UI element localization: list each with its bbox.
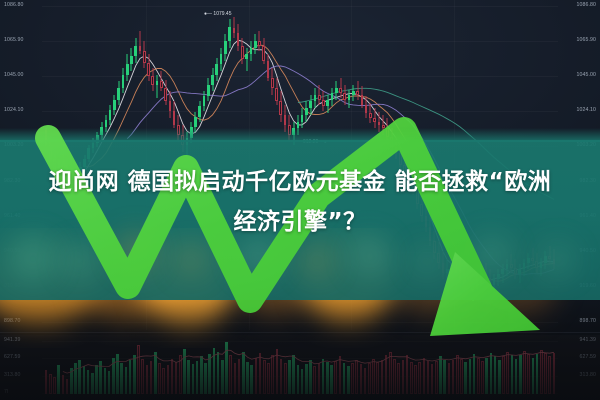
headline-line-1: 迎尚网 德国拟启动千亿欧元基金 能否拯救“欧洲 <box>0 162 600 202</box>
headline: 迎尚网 德国拟启动千亿欧元基金 能否拯救“欧洲 经济引擎”？ <box>0 162 600 242</box>
news-banner: 1086.801065.901045.001024.101003.20982.3… <box>0 0 600 400</box>
headline-line-2: 经济引擎”？ <box>0 202 600 242</box>
